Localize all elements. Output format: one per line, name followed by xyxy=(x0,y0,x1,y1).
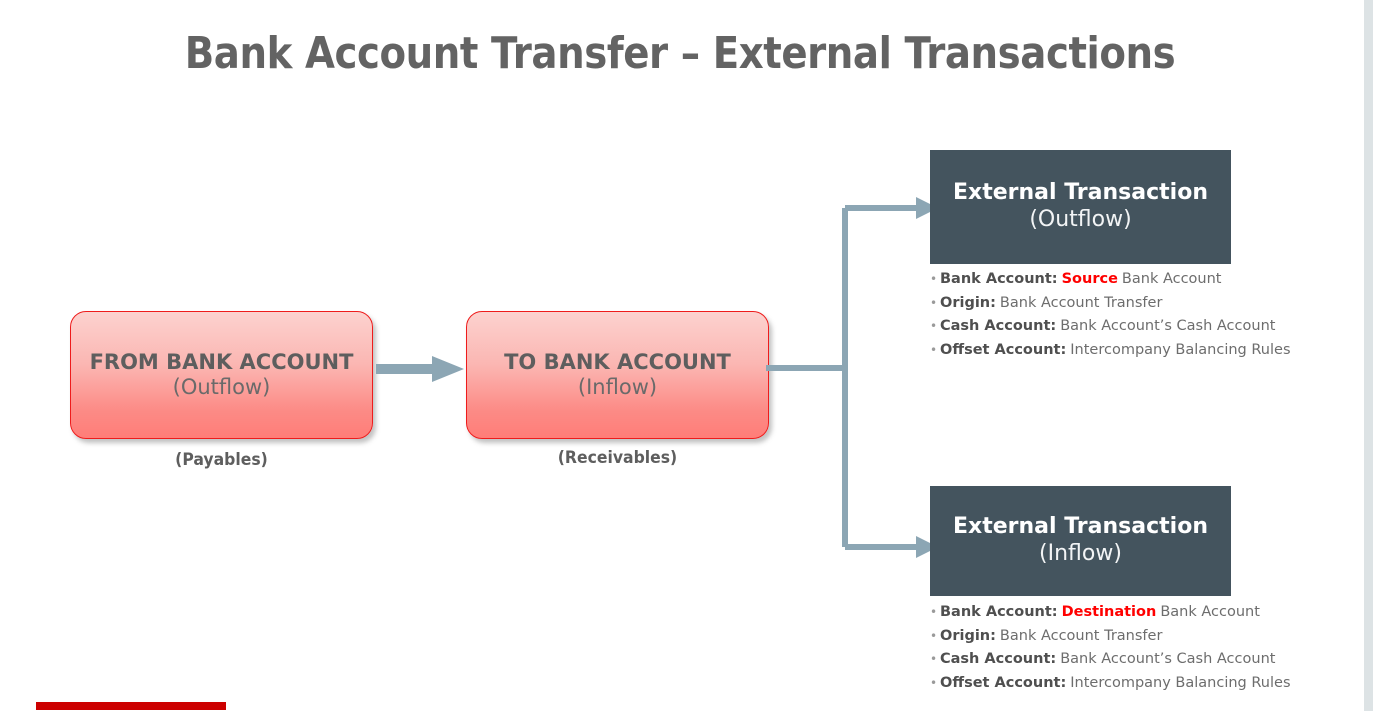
bullet-icon: • xyxy=(930,630,940,642)
detail-highlight: Source xyxy=(1058,271,1118,287)
detail-label: Offset Account: xyxy=(940,342,1066,358)
to-bank-account-title: TO BANK ACCOUNT xyxy=(504,350,731,375)
bullet-icon: • xyxy=(930,606,940,618)
to-bank-account-caption: (Receivables) xyxy=(478,448,757,468)
detail-value: Bank Account Transfer xyxy=(996,628,1163,644)
external-transaction-inflow-box[interactable]: External Transaction (Inflow) xyxy=(930,486,1231,596)
to-bank-account-subtitle: (Inflow) xyxy=(578,375,657,400)
transfer-arrow-icon xyxy=(376,355,464,383)
list-item: • Cash Account: Bank Account’s Cash Acco… xyxy=(930,318,1330,342)
detail-value: Intercompany Balancing Rules xyxy=(1066,342,1290,358)
list-item: • Offset Account: Intercompany Balancing… xyxy=(930,675,1330,699)
detail-label: Bank Account: xyxy=(940,271,1058,287)
external-transaction-inflow-details: • Bank Account: Destination Bank Account… xyxy=(930,604,1330,698)
list-item: • Offset Account: Intercompany Balancing… xyxy=(930,342,1330,366)
detail-value: Bank Account Transfer xyxy=(996,295,1163,311)
bullet-icon: • xyxy=(930,677,940,689)
bullet-icon: • xyxy=(930,320,940,332)
detail-value: Intercompany Balancing Rules xyxy=(1066,675,1290,691)
fork-connector-icon xyxy=(766,195,946,560)
from-bank-account-box[interactable]: FROM BANK ACCOUNT (Outflow) xyxy=(70,311,373,439)
external-transaction-outflow-subtitle: (Outflow) xyxy=(1029,206,1131,234)
bullet-icon: • xyxy=(930,273,940,285)
external-transaction-outflow-title: External Transaction xyxy=(953,180,1208,206)
page-title: Bank Account Transfer – External Transac… xyxy=(134,28,1225,79)
detail-label: Bank Account: xyxy=(940,604,1058,620)
detail-label: Origin: xyxy=(940,628,996,644)
to-bank-account-box[interactable]: TO BANK ACCOUNT (Inflow) xyxy=(466,311,769,439)
from-bank-account-caption: (Payables) xyxy=(82,450,361,470)
right-edge-strip xyxy=(1364,0,1373,711)
list-item: • Origin: Bank Account Transfer xyxy=(930,295,1330,319)
detail-value: Bank Account xyxy=(1156,604,1260,620)
slide-canvas: Bank Account Transfer – External Transac… xyxy=(0,0,1373,711)
detail-highlight: Destination xyxy=(1058,604,1157,620)
detail-value: Bank Account’s Cash Account xyxy=(1056,651,1275,667)
list-item: • Bank Account: Source Bank Account xyxy=(930,271,1330,295)
detail-value: Bank Account xyxy=(1118,271,1222,287)
list-item: • Cash Account: Bank Account’s Cash Acco… xyxy=(930,651,1330,675)
from-bank-account-title: FROM BANK ACCOUNT xyxy=(90,350,354,375)
bullet-icon: • xyxy=(930,344,940,356)
bullet-icon: • xyxy=(930,653,940,665)
detail-label: Offset Account: xyxy=(940,675,1066,691)
list-item: • Bank Account: Destination Bank Account xyxy=(930,604,1330,628)
external-transaction-outflow-details: • Bank Account: Source Bank Account • Or… xyxy=(930,271,1330,365)
accent-bar xyxy=(36,702,226,710)
external-transaction-outflow-box[interactable]: External Transaction (Outflow) xyxy=(930,150,1231,264)
detail-label: Cash Account: xyxy=(940,318,1056,334)
external-transaction-inflow-subtitle: (Inflow) xyxy=(1039,540,1122,568)
bullet-icon: • xyxy=(930,297,940,309)
detail-label: Cash Account: xyxy=(940,651,1056,667)
external-transaction-inflow-title: External Transaction xyxy=(953,514,1208,540)
list-item: • Origin: Bank Account Transfer xyxy=(930,628,1330,652)
from-bank-account-subtitle: (Outflow) xyxy=(173,375,271,400)
detail-label: Origin: xyxy=(940,295,996,311)
detail-value: Bank Account’s Cash Account xyxy=(1056,318,1275,334)
